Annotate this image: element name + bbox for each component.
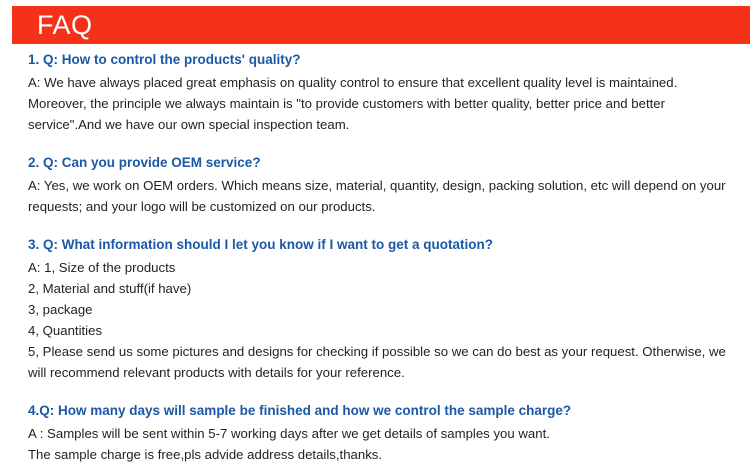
faq-answer-line: 4, Quantities: [28, 320, 728, 341]
faq-answer-line: The sample charge is free,pls advide add…: [28, 444, 728, 465]
faq-question: 1. Q: How to control the products' quali…: [28, 50, 728, 70]
faq-question: 3. Q: What information should I let you …: [28, 235, 728, 255]
faq-answer-line: 5, Please send us some pictures and desi…: [28, 341, 728, 383]
faq-banner: FAQ: [12, 6, 750, 44]
faq-item: 3. Q: What information should I let you …: [28, 235, 728, 383]
faq-answer-line: A: We have always placed great emphasis …: [28, 72, 728, 135]
faq-answer-line: 3, package: [28, 299, 728, 320]
faq-answer: A: We have always placed great emphasis …: [28, 72, 728, 135]
faq-question: 4.Q: How many days will sample be finish…: [28, 401, 728, 421]
faq-answer-line: A: 1, Size of the products: [28, 257, 728, 278]
faq-answer: A: Yes, we work on OEM orders. Which mea…: [28, 175, 728, 217]
page-title: FAQ: [12, 12, 93, 39]
faq-list: 1. Q: How to control the products' quali…: [28, 50, 728, 465]
faq-question: 2. Q: Can you provide OEM service?: [28, 153, 728, 173]
faq-answer: A: 1, Size of the products 2, Material a…: [28, 257, 728, 383]
faq-answer-line: 2, Material and stuff(if have): [28, 278, 728, 299]
faq-answer: A : Samples will be sent within 5-7 work…: [28, 423, 728, 465]
faq-answer-line: A : Samples will be sent within 5-7 work…: [28, 423, 728, 444]
faq-item: 2. Q: Can you provide OEM service? A: Ye…: [28, 153, 728, 217]
faq-item: 4.Q: How many days will sample be finish…: [28, 401, 728, 465]
faq-answer-line: A: Yes, we work on OEM orders. Which mea…: [28, 175, 728, 217]
faq-page: FAQ 1. Q: How to control the products' q…: [0, 0, 750, 466]
faq-item: 1. Q: How to control the products' quali…: [28, 50, 728, 135]
